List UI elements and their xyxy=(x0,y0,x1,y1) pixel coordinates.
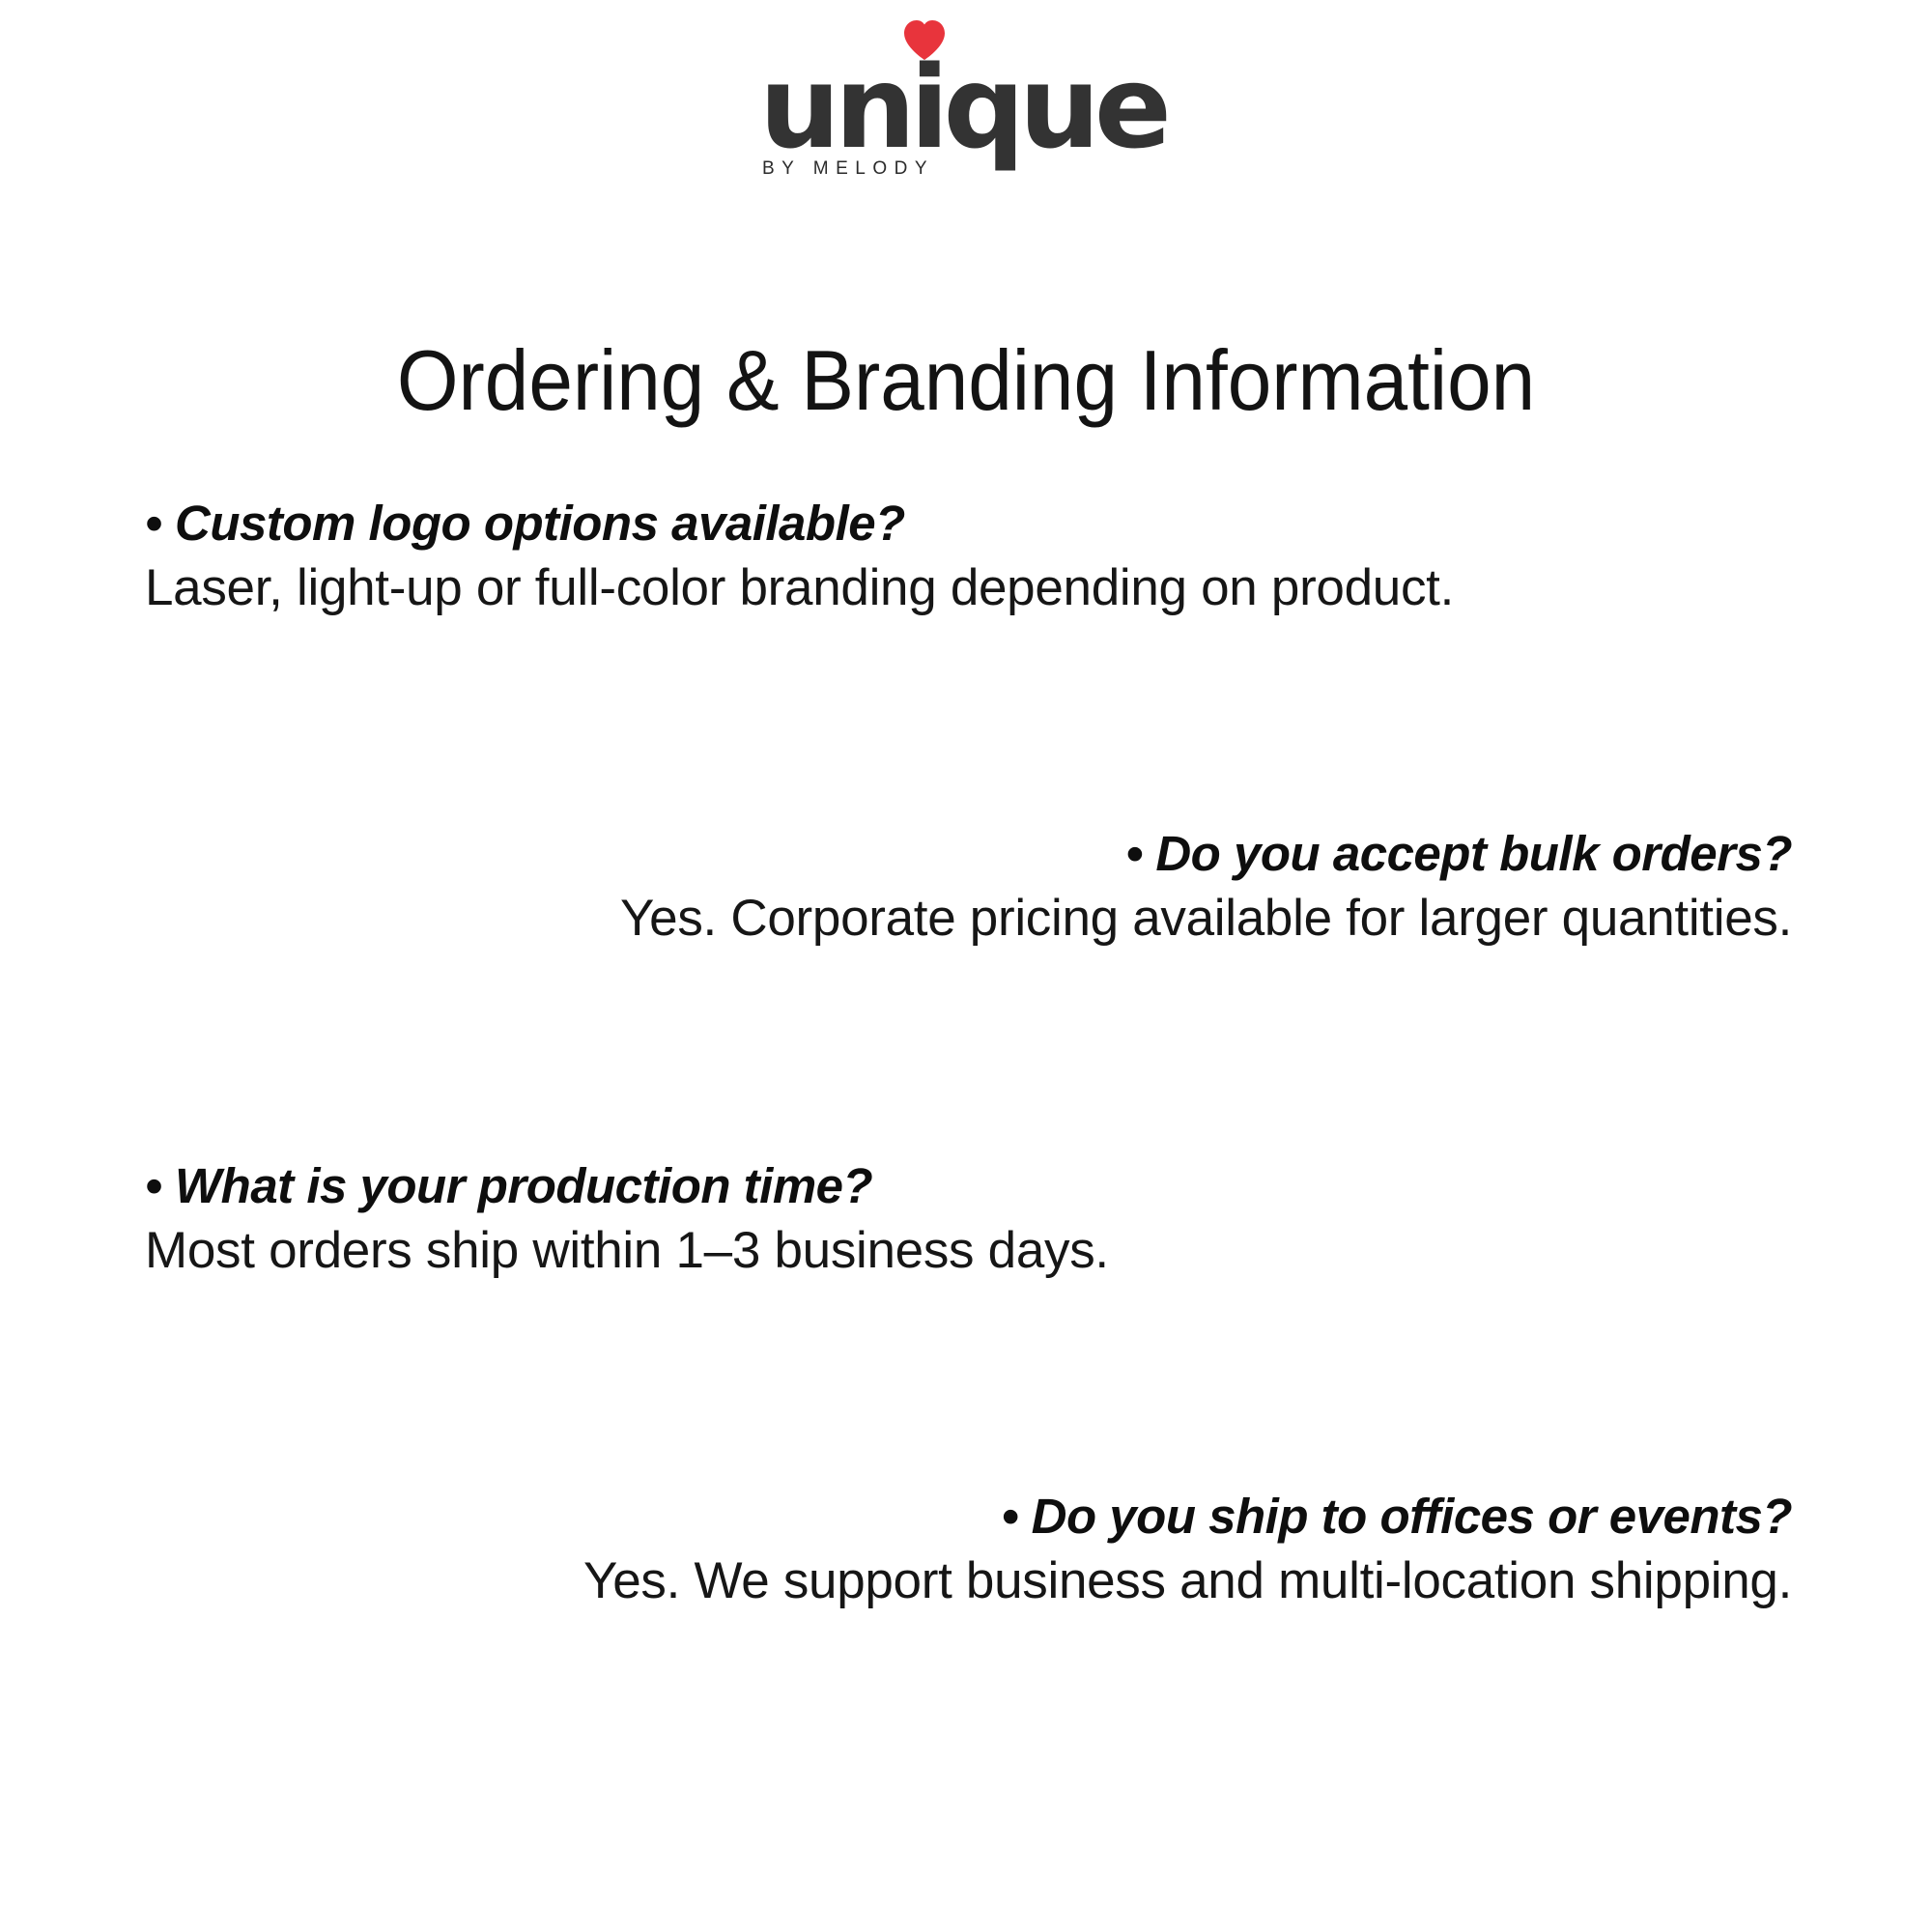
brand-tagline: BY MELODY xyxy=(762,158,934,180)
faq-answer: Laser, light-up or full-color branding d… xyxy=(145,554,1792,622)
brand-logo[interactable]: unique BY MELODY xyxy=(753,14,1179,187)
brand-wordmark: unique xyxy=(759,50,1166,164)
faq-item: • Do you accept bulk orders? Yes. Corpor… xyxy=(145,823,1792,952)
page-title: Ordering & Branding Information xyxy=(68,330,1864,431)
faq-question: • What is your production time? xyxy=(145,1155,1792,1217)
faq-item: • What is your production time? Most ord… xyxy=(145,1155,1792,1285)
faq-spacer xyxy=(145,952,1792,1155)
faq-spacer xyxy=(145,1285,1792,1486)
faq-answer: Most orders ship within 1–3 business day… xyxy=(145,1217,1792,1285)
faq-list: • Custom logo options available? Laser, … xyxy=(145,493,1792,1615)
faq-question: • Do you accept bulk orders? xyxy=(145,823,1792,885)
faq-item: • Do you ship to offices or events? Yes.… xyxy=(145,1486,1792,1615)
faq-question: • Do you ship to offices or events? xyxy=(145,1486,1792,1548)
faq-question: • Custom logo options available? xyxy=(145,493,1792,554)
faq-item: • Custom logo options available? Laser, … xyxy=(145,493,1792,622)
faq-answer: Yes. Corporate pricing available for lar… xyxy=(145,885,1792,952)
faq-answer: Yes. We support business and multi-locat… xyxy=(145,1548,1792,1615)
faq-spacer xyxy=(145,622,1792,823)
brand-header: unique BY MELODY xyxy=(0,0,1932,193)
